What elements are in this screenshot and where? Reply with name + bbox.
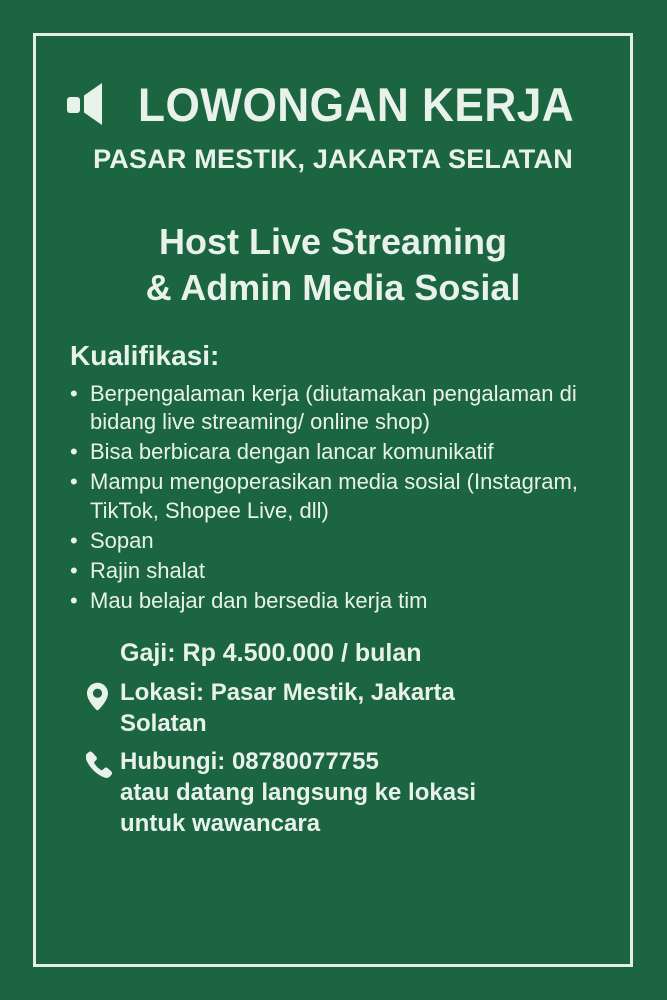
job-vacancy-poster: LOWONGAN KERJA PASAR MESTIK, JAKARTA SEL… <box>0 0 667 1000</box>
location-text: Lokasi: Pasar Mestik, Jakarta Solatan <box>120 677 455 739</box>
contact-line-3: untuk wawancara <box>120 808 476 839</box>
map-pin-icon <box>86 677 120 711</box>
contact-line-1: Hubungi: 08780077755 <box>120 748 379 775</box>
contact-row: Hubungi: 08780077755 atau datang langsun… <box>86 746 619 840</box>
qualifications-list: Berpengalaman kerja (diutamakan pengalam… <box>70 380 615 615</box>
qualifications-heading: Kualifikasi: <box>70 341 615 372</box>
details-section: Gaji: Rp 4.500.000 / bulan Lokasi: Pasar… <box>33 637 633 839</box>
poster-header: LOWONGAN KERJA <box>33 78 633 130</box>
job-title-line-2: & Admin Media Sosial <box>33 265 633 311</box>
list-item: Berpengalaman kerja (diutamakan pengalam… <box>70 380 615 436</box>
contact-line-2: atau datang langsung ke lokasi <box>120 777 476 808</box>
salary-row: Gaji: Rp 4.500.000 / bulan <box>86 637 619 670</box>
qualifications-section: Kualifikasi: Berpengalaman kerja (diutam… <box>33 341 633 615</box>
headline: LOWONGAN KERJA <box>138 81 574 128</box>
location-line-1: Lokasi: Pasar Mestik, Jakarta <box>120 679 455 706</box>
job-title-line-1: Host Live Streaming <box>33 219 633 265</box>
list-item: Rajin shalat <box>70 557 615 585</box>
list-item: Bisa berbicara dengan lancar komunikatif <box>70 438 615 466</box>
location-line-2: Solatan <box>120 708 455 739</box>
location-row: Lokasi: Pasar Mestik, Jakarta Solatan <box>86 677 619 739</box>
list-item: Mau belajar dan bersedia kerja tim <box>70 587 615 615</box>
subheadline: PASAR MESTIK, JAKARTA SELATAN <box>33 144 633 175</box>
list-item: Sopan <box>70 527 615 555</box>
salary-text: Gaji: Rp 4.500.000 / bulan <box>120 637 422 670</box>
job-title: Host Live Streaming & Admin Media Sosial <box>33 219 633 311</box>
phone-icon <box>86 746 120 778</box>
poster-content: LOWONGAN KERJA PASAR MESTIK, JAKARTA SEL… <box>33 33 633 967</box>
contact-text: Hubungi: 08780077755 atau datang langsun… <box>120 746 476 840</box>
megaphone-speaker-icon <box>64 78 116 130</box>
list-item: Mampu mengoperasikan media sosial (Insta… <box>70 468 615 524</box>
